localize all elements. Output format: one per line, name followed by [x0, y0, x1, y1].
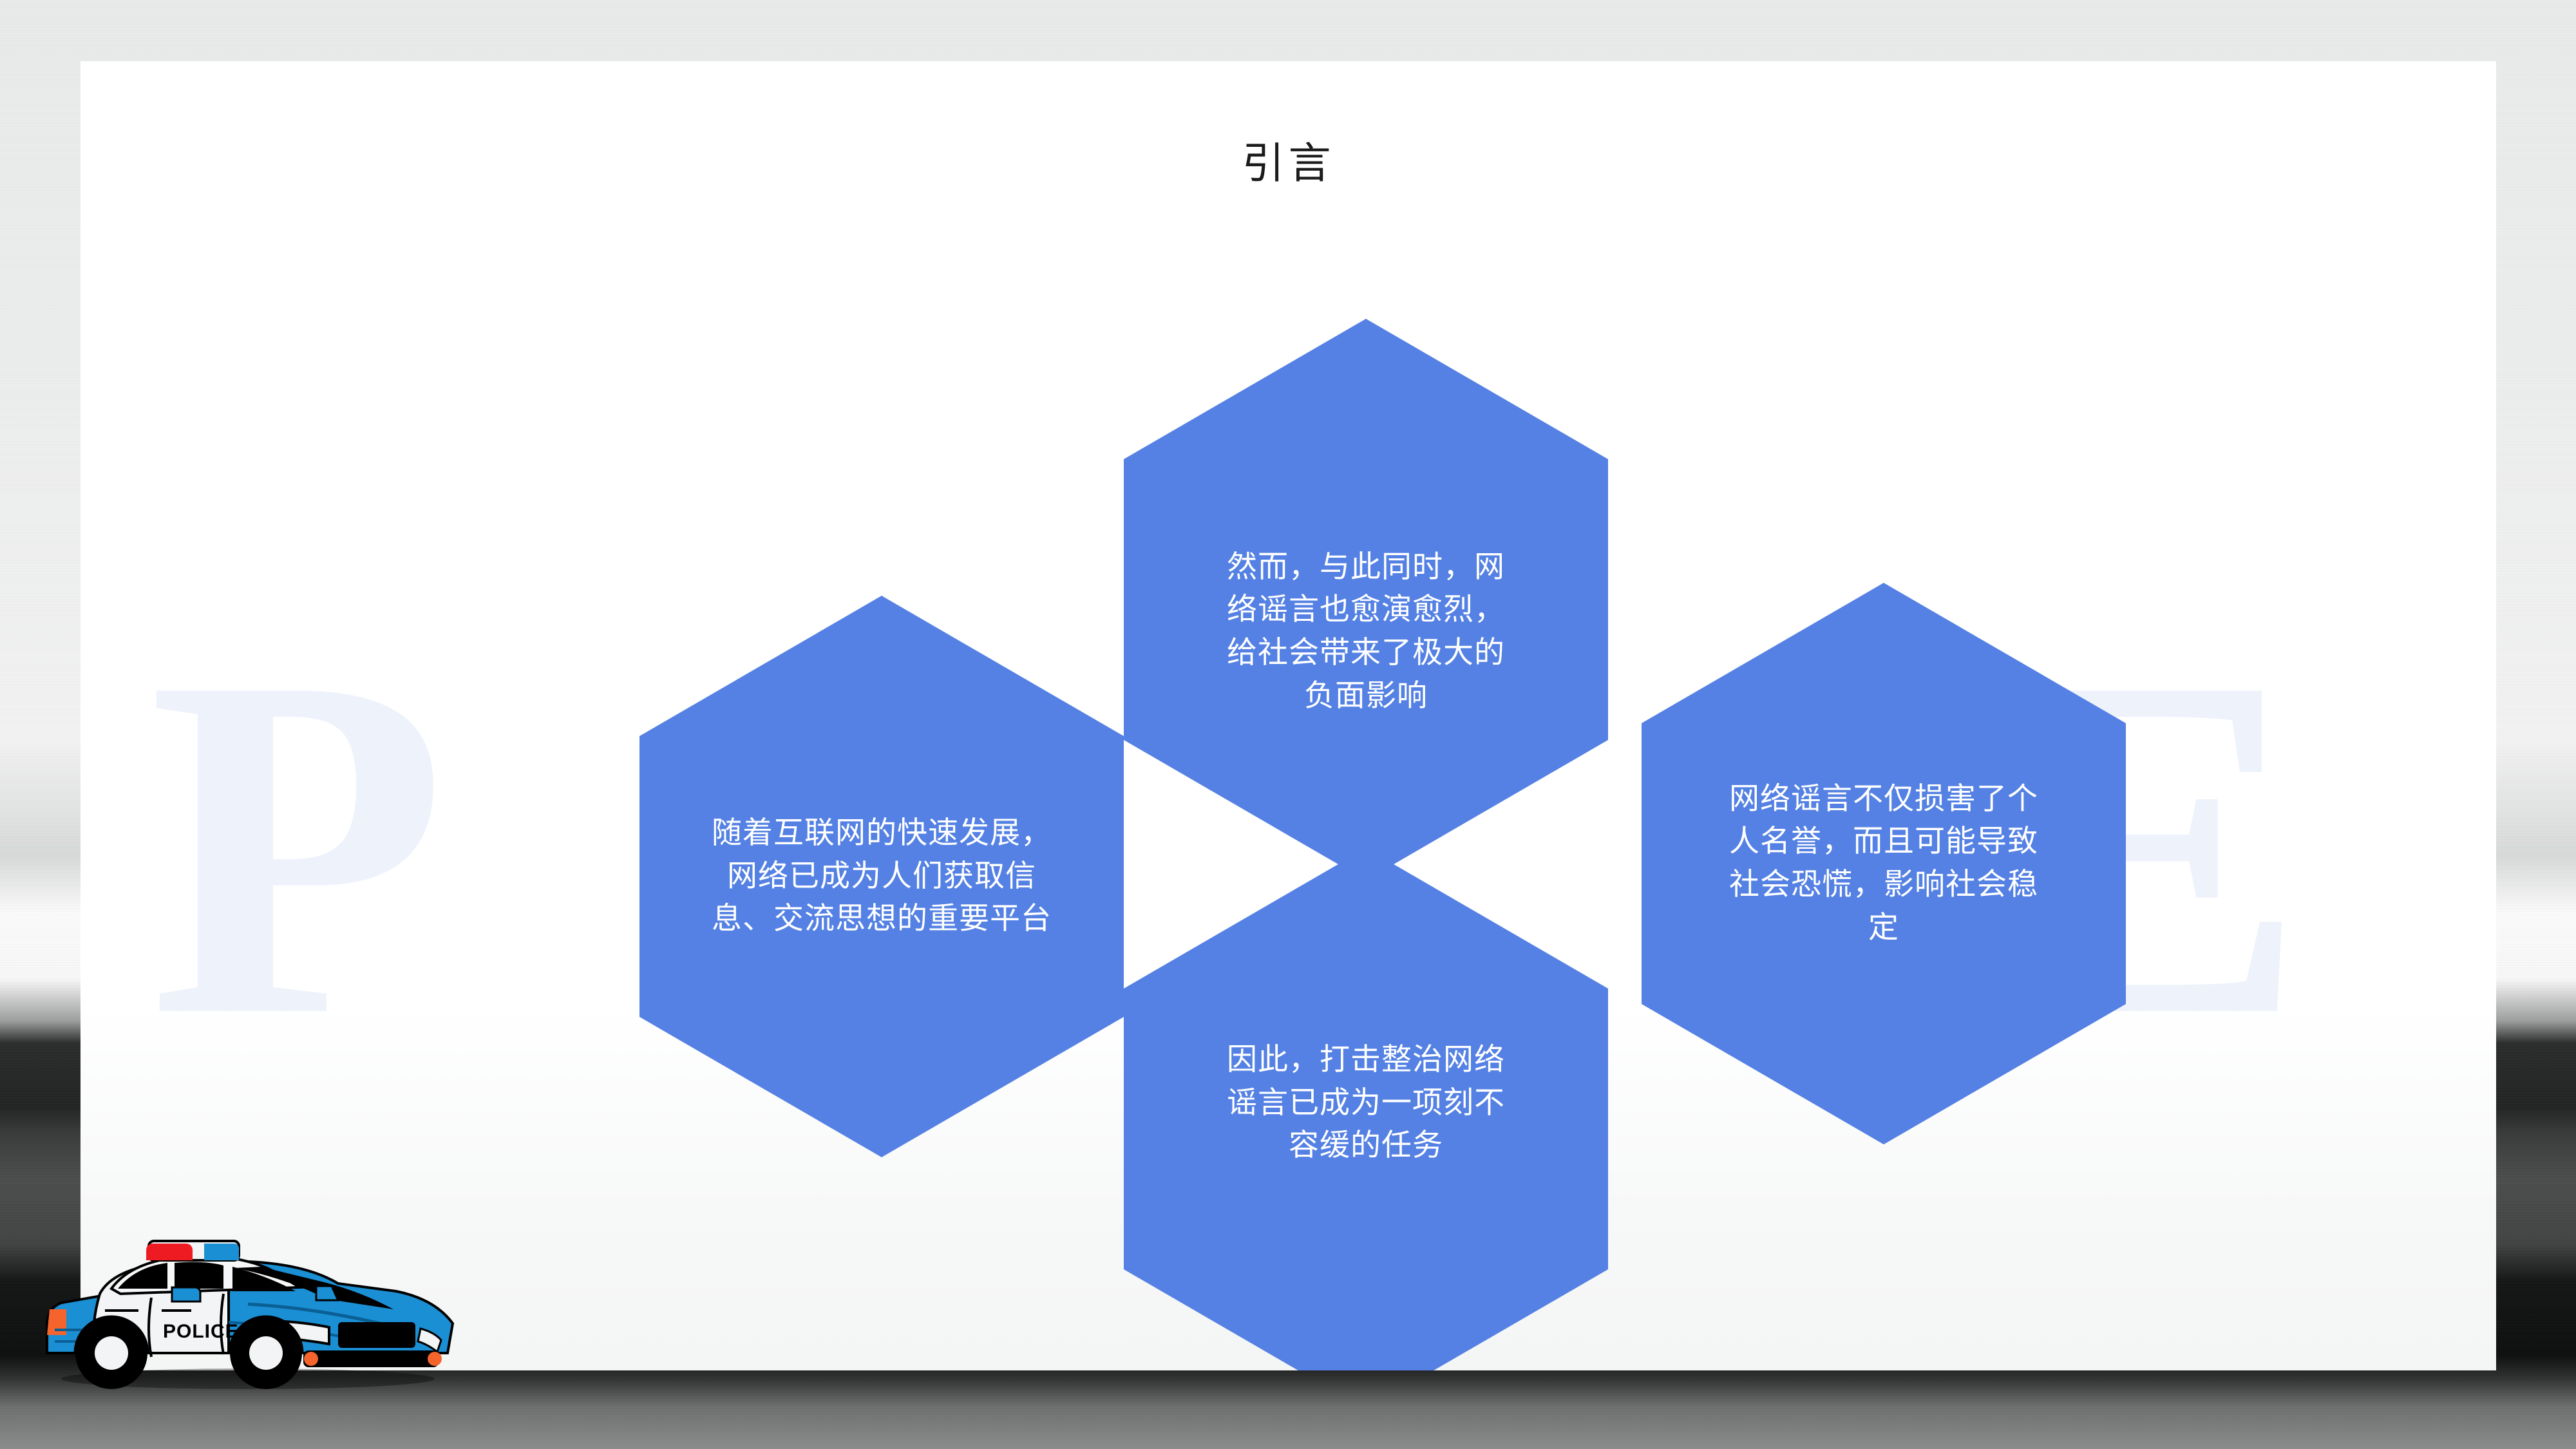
hexagon-shape: 因此，打击整治网络谣言已成为一项刻不容缓的任务 — [1124, 848, 1608, 1370]
hexagon-shape: 然而，与此同时，网络谣言也愈演愈烈，给社会带来了极大的负面影响 — [1124, 319, 1608, 880]
hexagon-left-label: 随着互联网的快速发展，网络已成为人们获取信息、交流思想的重要平台 — [701, 812, 1062, 941]
police-car-label: POLICE — [163, 1321, 239, 1342]
hexagon-right-label: 网络谣言不仅损害了个人名誉，而且可能导致社会恐慌，影响社会稳定 — [1729, 778, 2038, 950]
hexagon-shape: 网络谣言不仅损害了个人名誉，而且可能导致社会恐慌，影响社会稳定 — [1642, 583, 2126, 1144]
hexagon-bottom[interactable]: 因此，打击整治网络谣言已成为一项刻不容缓的任务 — [1124, 848, 1608, 1370]
watermark-letter-p: P — [148, 602, 447, 1092]
hexagon-right[interactable]: 网络谣言不仅损害了个人名誉，而且可能导致社会恐慌，影响社会稳定 — [1642, 583, 2126, 1144]
hexagon-top-label: 然而，与此同时，网络谣言也愈演愈烈，给社会带来了极大的负面影响 — [1221, 546, 1511, 718]
hexagon-shape: 随着互联网的快速发展，网络已成为人们获取信息、交流思想的重要平台 — [639, 596, 1124, 1157]
hexagon-left[interactable]: 随着互联网的快速发展，网络已成为人们获取信息、交流思想的重要平台 — [639, 596, 1124, 1157]
page-title: 引言 — [80, 129, 2496, 191]
slide-canvas: P E 引言 然而，与此同时，网络谣言也愈演愈烈，给社会带来了极大的负面影响 随… — [80, 61, 2496, 1370]
hexagon-bottom-label: 因此，打击整治网络谣言已成为一项刻不容缓的任务 — [1218, 1039, 1514, 1168]
hexagon-top[interactable]: 然而，与此同时，网络谣言也愈演愈烈，给社会带来了极大的负面影响 — [1124, 319, 1608, 880]
police-car-icon: POLICE — [35, 1227, 460, 1394]
